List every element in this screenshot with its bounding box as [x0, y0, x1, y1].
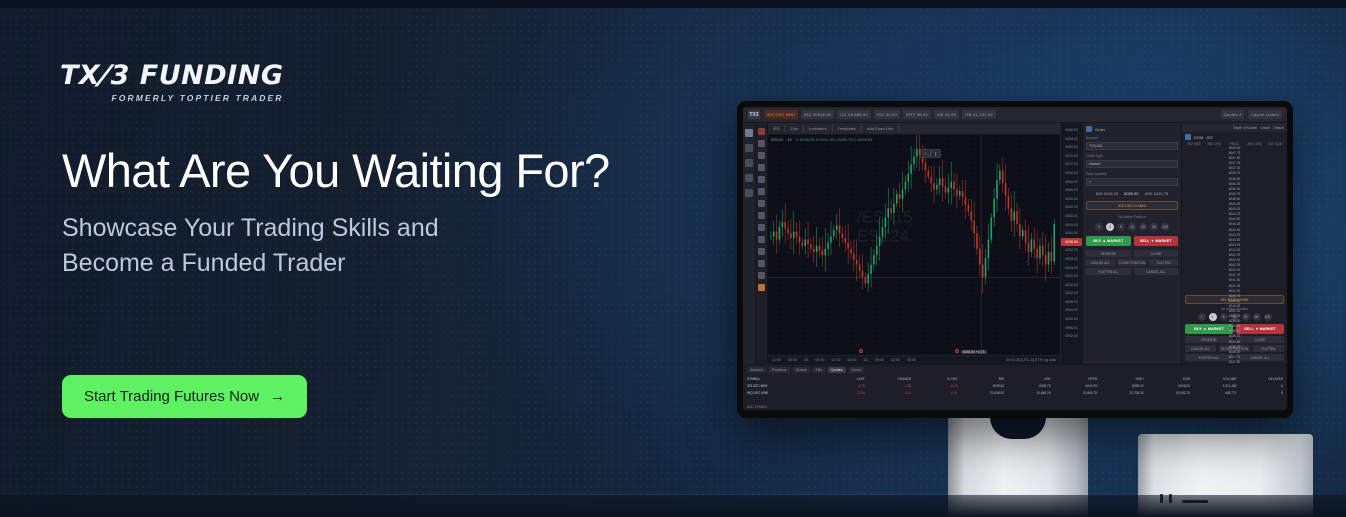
cell-1-4: 20,638.00: [960, 391, 1004, 395]
pencil-icon[interactable]: ╱: [929, 151, 931, 156]
price-tick-0: 6088.00: [1065, 126, 1077, 135]
time-tick-5: 15:00: [847, 358, 856, 362]
price-tick-12: 6040.00: [1065, 229, 1077, 238]
section-divider: [0, 494, 1346, 495]
order-action-1-0[interactable]: CANCEL ALL: [1086, 259, 1115, 266]
order-action-0-0[interactable]: REVERSE: [1086, 250, 1131, 257]
dom-qty-option-25[interactable]: 25: [1242, 313, 1250, 321]
price-tick-low-8: 6000.00: [1065, 315, 1077, 324]
order-row-1: CANCEL ALLCLOSE POSITIONFLATTEN: [1086, 259, 1178, 266]
dom-qty-option-2[interactable]: 2: [1209, 313, 1217, 321]
order-action-1-1[interactable]: CLOSE POSITION: [1118, 259, 1147, 266]
price-tick-11: 6044.00: [1065, 221, 1077, 230]
column-header-6: OPEN: [1053, 377, 1097, 381]
account-label: Account: [1086, 136, 1178, 140]
symbol-tab-6[interactable]: /ZB 51,201.00: [962, 110, 996, 119]
price-tick-low-4: 6016.00: [1065, 281, 1077, 290]
chart-symbol-label: /ES,D1 · 15: [771, 137, 792, 142]
quantity-input[interactable]: 1: [1086, 178, 1178, 186]
watchlist-tab-account[interactable]: Account: [747, 367, 766, 373]
scanner-icon[interactable]: [745, 144, 753, 152]
chart-price-tag: 6035.50 +4.75: [961, 350, 987, 354]
dom-control-2[interactable]: Detach: [1273, 126, 1284, 130]
table-header-row: SYMBOLLASTCHANGE% CHGBIDASKOPENHIGHLOWVO…: [747, 375, 1283, 382]
dom-symbol: /ES: [1206, 135, 1212, 140]
ask-label: ASK 6035.75: [1145, 191, 1169, 196]
trendline-icon[interactable]: [758, 140, 765, 147]
toolbar-item-1[interactable]: Indicators: [809, 126, 826, 131]
qty-option-2[interactable]: 2: [1106, 223, 1114, 231]
cell-0-3: -0.08: [913, 384, 957, 388]
toolbar-divider-0: [784, 125, 785, 132]
quote-strip: BID 6035.25 6035.50 ASK 6035.75: [1086, 191, 1178, 196]
contract-selector[interactable]: /ES ESZ24 MINI: [1086, 201, 1178, 210]
cell-1-7: 20,708.00: [1099, 391, 1143, 395]
crosshair-vertical: [981, 135, 982, 364]
trading-platform-screen[interactable]: TX3 /ES DEC MINI/NQ 20638.50/CL 69,688.5…: [743, 107, 1287, 410]
cell-0-8: 6008.00: [1146, 384, 1190, 388]
chart-header: /ES,D1 · 15 O 6038.25 H 6041.50 L 6030.7…: [771, 137, 872, 142]
brush-icon[interactable]: [758, 188, 765, 195]
price-tick-5: 6068.00: [1065, 169, 1077, 178]
time-tick-8: 12:00: [891, 358, 900, 362]
watchlist-tab-quotes[interactable]: Quotes: [828, 367, 846, 373]
time-tick-4: 12:00: [831, 358, 840, 362]
quotes-table[interactable]: SYMBOLLASTCHANGE% CHGBIDASKOPENHIGHLOWVO…: [743, 375, 1287, 403]
cell-1-9: 408,771: [1192, 391, 1236, 395]
cell-1-6: 20,660.75: [1053, 391, 1097, 395]
toolbar-divider-4: [898, 125, 899, 132]
logo-text-tx: TX: [60, 60, 100, 91]
hero-subheadline: Showcase Your Trading Skills and Become …: [62, 211, 610, 282]
symbol-tab-1[interactable]: /NQ 20638.50: [801, 110, 834, 119]
dom-qty-option-50[interactable]: 50: [1253, 313, 1261, 321]
dom-sell-button[interactable]: SELL ▼ MARKET: [1236, 324, 1284, 334]
trade-marker-1[interactable]: [859, 349, 863, 353]
column-header-4: BID: [960, 377, 1004, 381]
time-tick-2: 3A: [804, 358, 808, 362]
magnet-icon[interactable]: [758, 236, 765, 243]
price-chart[interactable]: /ES,D1 · 15 O 6038.25 H 6041.50 L 6030.7…: [768, 135, 1060, 364]
dom-header: DOM /ES: [1182, 132, 1287, 142]
dom-qty-option-5[interactable]: 5: [1220, 313, 1228, 321]
brand-logo[interactable]: TX/3 FUNDING FORMERLY TOPTIER TRADER: [60, 62, 283, 103]
chart-footer-status: 04:41:38 (UTC-6) ETH log auto: [1006, 358, 1056, 362]
cell-1-1: -22.50: [820, 391, 864, 395]
order-panel-header: Order: [1086, 126, 1178, 132]
price-tick-low-9: 5996.00: [1065, 324, 1077, 333]
toolbar-divider-2: [832, 125, 833, 132]
qty-option-1[interactable]: 1: [1095, 223, 1103, 231]
text-icon[interactable]: [758, 200, 765, 207]
order-secondary-actions[interactable]: REVERSECLOSECANCEL ALLCLOSE POSITIONFLAT…: [1086, 248, 1178, 275]
cell-0-10: 0: [1239, 384, 1283, 388]
depth-of-market-panel[interactable]: Depth of MarketLinkedDetach DOM /ES BID …: [1181, 123, 1287, 364]
price-tick-3: 6076.00: [1065, 152, 1077, 161]
ruler-icon[interactable]: [758, 224, 765, 231]
pitchfork-icon[interactable]: [758, 164, 765, 171]
dom-price-42[interactable]: 6037.50: [1229, 360, 1241, 364]
toolbar-item-2[interactable]: Templates: [838, 126, 856, 131]
price-tick-low-7: 6004.00: [1065, 306, 1077, 315]
subheadline-line-2: Become a Funded Trader: [62, 246, 610, 282]
crosshair-icon[interactable]: [758, 128, 765, 135]
cell-0-9: 1,011,482: [1192, 384, 1236, 388]
dom-qty-option-1[interactable]: 1: [1198, 313, 1206, 321]
price-tick-2: 6080.00: [1065, 143, 1077, 152]
price-tick-8: 6056.00: [1065, 195, 1077, 204]
cell-0-7: 6055.00: [1099, 384, 1143, 388]
quantity-value: 1: [1089, 180, 1091, 184]
top-right-tab-1[interactable]: Layout Linked: [1248, 110, 1282, 119]
start-trading-button[interactable]: Start Trading Futures Now →: [62, 375, 307, 418]
column-header-9: VOLUME: [1192, 377, 1236, 381]
calendar-icon[interactable]: [745, 189, 753, 197]
account-select[interactable]: TX3-001: [1086, 142, 1178, 150]
column-header-3: % CHG: [913, 377, 957, 381]
alerts-icon[interactable]: [745, 159, 753, 167]
top-strip: [0, 0, 1346, 8]
dom-action-1-2[interactable]: FLATTEN: [1253, 345, 1284, 352]
cell-1-2: -0.11: [867, 391, 911, 395]
settings-icon[interactable]: [758, 284, 765, 291]
trash-icon[interactable]: [758, 272, 765, 279]
price-tick-low-2: 6024.00: [1065, 264, 1077, 273]
price-tick-4: 6072.00: [1065, 160, 1077, 169]
crosshair-horizontal: [768, 277, 1060, 278]
dom-ladder[interactable]: 6048.006047.756047.506047.256047.006046.…: [1182, 146, 1287, 290]
price-tick-low-6: 6008.00: [1065, 298, 1077, 307]
watchlist-tab-fills[interactable]: Fills: [813, 367, 825, 373]
toolbar-item-3[interactable]: Add Chart Link: [867, 126, 893, 131]
clock-icon[interactable]: [745, 174, 753, 182]
symbol-tab-5[interactable]: /6E 49.28: [934, 110, 959, 119]
chart-toolbar[interactable]: /ES15mIndicatorsTemplatesAdd Chart Link: [768, 123, 1060, 135]
current-price-tag: 6035.50: [1061, 238, 1082, 247]
dom-control-0[interactable]: Depth of Market: [1233, 126, 1257, 130]
cell-1-0: /NQ DEC MINI: [747, 391, 818, 395]
toolbar-divider-3: [861, 125, 862, 132]
price-tick-low-0: 6032.00: [1065, 246, 1077, 255]
logo-wordmark: TX/3 FUNDING: [60, 62, 283, 89]
dom-top-controls[interactable]: Depth of MarketLinkedDetach: [1182, 123, 1287, 132]
subheadline-line-1: Showcase Your Trading Skills and: [62, 211, 610, 247]
time-tick-0: 21:00: [772, 358, 781, 362]
price-tick-9: 6052.00: [1065, 203, 1077, 212]
watchlist-footer[interactable]: ADD SYMBOL: [743, 403, 1287, 410]
eraser-icon[interactable]: □: [924, 151, 926, 156]
toolbar-item-0[interactable]: 15m: [790, 126, 798, 131]
toolbar-symbol[interactable]: /ES: [773, 126, 779, 131]
price-tick-low-5: 6012.00: [1065, 289, 1077, 298]
bid-label: BID 6035.25: [1096, 191, 1118, 196]
table-row[interactable]: /ES DEC MINI-4.75-0.08-0.086035.506035.7…: [747, 382, 1283, 389]
qty-option-50[interactable]: 50: [1150, 223, 1158, 231]
cell-0-5: 6035.75: [1006, 384, 1050, 388]
order-type-label: Order Type: [1086, 154, 1178, 158]
price-tick-6: 6064.00: [1065, 178, 1077, 187]
dom-control-1[interactable]: Linked: [1260, 126, 1270, 130]
symbol-tab-3[interactable]: /GC 32.50: [874, 110, 900, 119]
mid-price-label: 6035.50: [1124, 191, 1138, 196]
dom-action-2-0[interactable]: FLATTEN ALL: [1185, 354, 1233, 361]
order-row-2: FLATTEN ALLCANCEL ALL: [1086, 268, 1178, 275]
order-action-0-1[interactable]: CLOSE: [1134, 250, 1179, 257]
eye-icon[interactable]: [758, 260, 765, 267]
time-tick-7: 09:00: [875, 358, 884, 362]
chart-column: /ES15mIndicatorsTemplatesAdd Chart Link …: [768, 123, 1060, 364]
column-header-8: LOW: [1146, 377, 1190, 381]
lock-icon[interactable]: [758, 248, 765, 255]
watchlist-tabs[interactable]: AccountPositionsOrdersFillsQuotesCurve: [743, 365, 1287, 375]
price-tick-7: 6060.00: [1065, 186, 1077, 195]
order-entry-panel[interactable]: Order Account TX3-001 Order Type Market …: [1082, 123, 1181, 364]
chart-ohlc-label: O 6038.25 H 6041.50 L 6030.75 C 6035.50: [796, 137, 873, 142]
cell-0-1: -4.75: [820, 384, 864, 388]
quantity-label: Total Quantity: [1086, 172, 1178, 176]
chart-time-axis[interactable]: 21:0000:003A06:0012:0015:003A09:0012:001…: [768, 355, 1060, 364]
chart-icon[interactable]: [745, 129, 753, 137]
platform-body: /ES15mIndicatorsTemplatesAdd Chart Link …: [743, 123, 1287, 364]
drawing-toolbar-popup[interactable]: □ ╱ ∥: [920, 149, 941, 158]
buy-market-button[interactable]: BUY ▲ MARKET: [1086, 236, 1131, 246]
arrow-right-icon: →: [270, 389, 285, 404]
dom-qty-option-100[interactable]: 100: [1264, 313, 1272, 321]
emoji-icon[interactable]: [758, 212, 765, 219]
order-panel-title: Order: [1095, 127, 1105, 132]
quantity-presets[interactable]: 125102550100: [1086, 223, 1178, 231]
order-action-2-1[interactable]: CANCEL ALL: [1134, 268, 1179, 275]
price-tick-1: 6084.00: [1065, 135, 1077, 144]
dom-action-0-1[interactable]: CLOSE: [1236, 336, 1284, 343]
time-tick-9: 18:00: [907, 358, 916, 362]
price-tick-10: 6048.00: [1065, 212, 1077, 221]
price-tick-low-1: 6028.00: [1065, 255, 1077, 264]
time-tick-6: 3A: [863, 358, 867, 362]
symbol-tab-strip[interactable]: /ES DEC MINI/NQ 20638.50/CL 69,688.50/GC…: [764, 110, 996, 119]
cell-0-2: -0.08: [867, 384, 911, 388]
qty-option-5[interactable]: 5: [1117, 223, 1125, 231]
symbol-tab-2[interactable]: /CL 69,688.50: [837, 110, 871, 119]
sell-market-button[interactable]: SELL ▼ MARKET: [1134, 236, 1179, 246]
qty-option-25[interactable]: 25: [1139, 223, 1147, 231]
order-type-select[interactable]: Market: [1086, 160, 1178, 168]
column-header-7: HIGH: [1099, 377, 1143, 381]
fib-icon[interactable]: [758, 152, 765, 159]
bottom-strip: [0, 495, 1346, 517]
watchlist-tab-orders[interactable]: Orders: [793, 367, 810, 373]
order-icon: [1086, 126, 1092, 132]
symbol-tab-0[interactable]: /ES DEC MINI: [764, 110, 798, 119]
dom-action-1-0[interactable]: CANCEL ALL: [1185, 345, 1216, 352]
add-symbol-button[interactable]: ADD SYMBOL: [747, 405, 768, 409]
time-tick-1: 00:00: [788, 358, 797, 362]
watchlist-tab-curve[interactable]: Curve: [849, 367, 865, 373]
time-tick-3: 06:00: [815, 358, 824, 362]
position-status: No Active Position: [1086, 215, 1178, 219]
shapes-icon[interactable]: [758, 176, 765, 183]
column-header-1: LAST: [820, 377, 864, 381]
watchlist-tab-positions[interactable]: Positions: [769, 367, 790, 373]
order-action-1-2[interactable]: FLATTEN: [1149, 259, 1178, 266]
order-action-buttons[interactable]: BUY ▲ MARKET SELL ▼ MARKET: [1086, 236, 1178, 246]
top-right-controls[interactable]: Quotes 4Layout Linked: [1221, 110, 1282, 119]
cell-1-5: 20,648.25: [1006, 391, 1050, 395]
column-header-10: DELAYED: [1239, 377, 1283, 381]
monitor-device: TX3 /ES DEC MINI/NQ 20638.50/CL 69,688.5…: [737, 101, 1293, 418]
qty-option-100[interactable]: 100: [1161, 223, 1169, 231]
dom-action-0-0[interactable]: REVERSE: [1185, 336, 1233, 343]
toolbar-divider-1: [803, 125, 804, 132]
price-tick-low-10: 5992.00: [1065, 332, 1077, 341]
price-axis[interactable]: 6088.006084.006080.006076.006072.006068.…: [1060, 123, 1082, 364]
platform-top-bar: TX3 /ES DEC MINI/NQ 20638.50/CL 69,688.5…: [743, 107, 1287, 123]
cell-0-6: 6040.25: [1053, 384, 1097, 388]
price-tick-low-3: 6020.00: [1065, 272, 1077, 281]
logo-text-3funding: 3 FUNDING: [111, 60, 284, 91]
symbol-tab-4[interactable]: /RTY 56.52: [903, 110, 931, 119]
dom-icon: [1185, 134, 1191, 140]
hero-section: TX/3 FUNDING FORMERLY TOPTIER TRADER Wha…: [0, 0, 1346, 517]
magnet-icon[interactable]: ∥: [935, 151, 937, 156]
cell-1-10: 0: [1239, 391, 1283, 395]
cell-1-3: -0.11: [913, 391, 957, 395]
trade-marker-2[interactable]: [955, 349, 959, 353]
qty-option-10[interactable]: 10: [1128, 223, 1136, 231]
order-type-value: Market: [1089, 162, 1100, 166]
platform-logo: TX3: [748, 110, 760, 119]
dom-action-2-1[interactable]: CANCEL ALL: [1236, 354, 1284, 361]
order-action-2-0[interactable]: FLATTEN ALL: [1086, 268, 1131, 275]
cell-0-0: /ES DEC MINI: [747, 384, 818, 388]
cell-0-4: 6035.50: [960, 384, 1004, 388]
cell-1-8: 20,542.75: [1146, 391, 1190, 395]
table-row[interactable]: /NQ DEC MINI-22.50-0.11-0.1120,638.0020,…: [747, 389, 1283, 396]
logo-tagline: FORMERLY TOPTIER TRADER: [60, 93, 283, 103]
dom-buy-button[interactable]: BUY ▲ MARKET: [1185, 324, 1233, 334]
order-row-0: REVERSECLOSE: [1086, 250, 1178, 257]
top-right-tab-0[interactable]: Quotes 4: [1221, 110, 1245, 119]
app-sidebar-rail[interactable]: [743, 123, 756, 364]
account-value: TX3-001: [1089, 144, 1103, 148]
dom-title: DOM: [1194, 135, 1203, 140]
watchlist-panel[interactable]: AccountPositionsOrdersFillsQuotesCurve S…: [743, 364, 1287, 410]
column-header-2: CHANGE: [867, 377, 911, 381]
drawing-tools-rail[interactable]: [756, 123, 768, 364]
page-title: What Are You Waiting For?: [62, 146, 610, 197]
cta-label: Start Trading Futures Now: [84, 388, 259, 405]
column-header-0: SYMBOL: [747, 377, 818, 381]
column-header-5: ASK: [1006, 377, 1050, 381]
hero-copy: What Are You Waiting For? Showcase Your …: [62, 146, 610, 282]
